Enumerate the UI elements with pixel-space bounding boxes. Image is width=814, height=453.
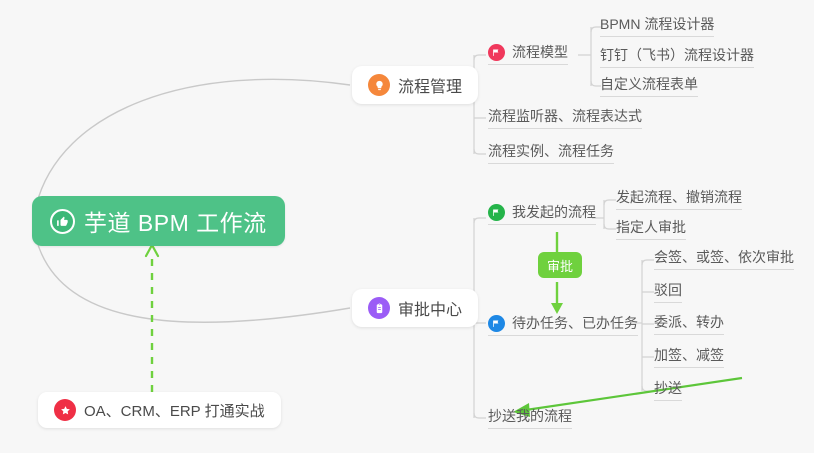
leaf-cc[interactable]: 抄送 (654, 376, 682, 401)
leaf-process-listener[interactable]: 流程监听器、流程表达式 (488, 104, 642, 129)
link-mystarted-bracket-rounded (604, 200, 616, 229)
integration-arrowhead (146, 245, 158, 256)
branch-approval-center-label: 审批中心 (398, 296, 462, 320)
callout-integration[interactable]: OA、CRM、ERP 打通实战 (38, 392, 281, 428)
leaf-start-cancel-process[interactable]: 发起流程、撤销流程 (616, 185, 742, 210)
mindmap-canvas: 芋道 BPM 工作流 流程管理 流程模型 BPMN 流程设计器 钉钉（飞书）流程… (0, 0, 814, 453)
leaf-process-instance[interactable]: 流程实例、流程任务 (488, 139, 614, 164)
callout-integration-label: OA、CRM、ERP 打通实战 (84, 400, 265, 421)
leaf-assignee-approval[interactable]: 指定人审批 (616, 215, 686, 240)
flag-icon (488, 204, 505, 221)
leaf-countersign[interactable]: 会签、或签、依次审批 (654, 245, 794, 270)
leaf-process-listener-label: 流程监听器、流程表达式 (488, 107, 642, 125)
leaf-add-remove-sign[interactable]: 加签、减签 (654, 343, 724, 368)
lightbulb-icon (368, 74, 390, 96)
leaf-cc-to-me[interactable]: 抄送我的流程 (488, 404, 572, 429)
approval-tag[interactable]: 审批 (538, 252, 582, 278)
leaf-start-cancel-process-label: 发起流程、撤销流程 (616, 188, 742, 206)
node-process-model-label: 流程模型 (512, 43, 568, 61)
leaf-bpmn-designer[interactable]: BPMN 流程设计器 (600, 12, 714, 37)
branch-approval-center[interactable]: 审批中心 (352, 289, 478, 327)
node-todo-done-task-label: 待办任务、已办任务 (512, 314, 638, 332)
leaf-custom-process-form[interactable]: 自定义流程表单 (600, 72, 698, 97)
leaf-process-instance-label: 流程实例、流程任务 (488, 142, 614, 160)
link-root-to-process-management (36, 79, 350, 206)
link-root-to-approval-center (36, 238, 350, 322)
leaf-assignee-approval-label: 指定人审批 (616, 218, 686, 236)
flag-icon (488, 44, 505, 61)
leaf-dingtalk-feishu-designer-label: 钉钉（飞书）流程设计器 (600, 46, 754, 64)
root-label: 芋道 BPM 工作流 (84, 204, 267, 238)
star-icon (54, 399, 76, 421)
leaf-reject-label: 驳回 (654, 281, 682, 299)
node-todo-done-task[interactable]: 待办任务、已办任务 (488, 311, 638, 336)
leaf-dingtalk-feishu-designer[interactable]: 钉钉（飞书）流程设计器 (600, 43, 754, 68)
approval-tag-label: 审批 (547, 256, 573, 275)
branch-process-management[interactable]: 流程管理 (352, 66, 478, 104)
root-node[interactable]: 芋道 BPM 工作流 (32, 196, 285, 246)
link-process-model-bracket (578, 27, 591, 86)
leaf-reject[interactable]: 驳回 (654, 278, 682, 303)
leaf-custom-process-form-label: 自定义流程表单 (600, 75, 698, 93)
clipboard-icon (368, 297, 390, 319)
thumbs-up-icon (50, 209, 75, 234)
branch-process-management-label: 流程管理 (398, 73, 462, 97)
leaf-cc-label: 抄送 (654, 379, 682, 397)
node-my-started-process[interactable]: 我发起的流程 (488, 200, 596, 225)
leaf-cc-to-me-label: 抄送我的流程 (488, 407, 572, 425)
leaf-bpmn-designer-label: BPMN 流程设计器 (600, 15, 714, 33)
leaf-countersign-label: 会签、或签、依次审批 (654, 248, 794, 266)
link-todo-bracket-rounded (642, 260, 654, 391)
leaf-add-remove-sign-label: 加签、减签 (654, 346, 724, 364)
flag-icon (488, 315, 505, 332)
node-my-started-process-label: 我发起的流程 (512, 203, 596, 221)
leaf-delegate-transfer[interactable]: 委派、转办 (654, 310, 724, 335)
node-process-model[interactable]: 流程模型 (488, 40, 568, 65)
leaf-delegate-transfer-label: 委派、转办 (654, 313, 724, 331)
